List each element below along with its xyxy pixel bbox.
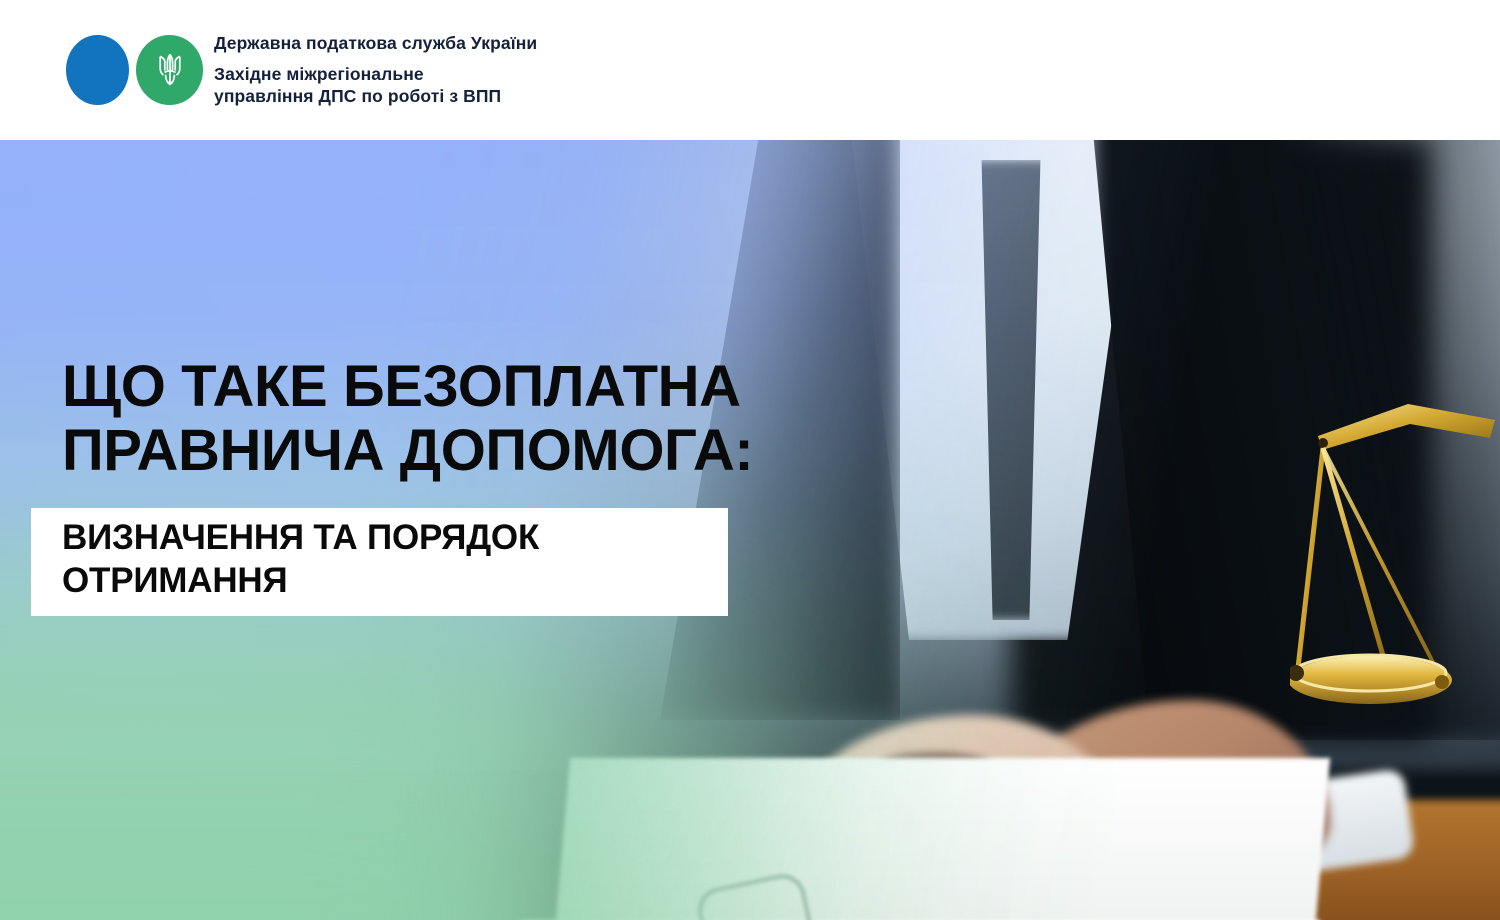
poster-root: Державна податкова служба України Західн… (0, 0, 1500, 920)
site-header: Державна податкова служба України Західн… (0, 0, 1500, 140)
logo-blue-circle-icon (66, 35, 129, 105)
hero-subhead: ВИЗНАЧЕННЯ ТА ПОРЯДОК ОТРИМАННЯ (62, 517, 742, 602)
title-block: ЩО ТАКЕ БЕЗОПЛАТНА ПРАВНИЧА ДОПОМОГА: ВИ… (0, 140, 1500, 920)
brand-lockup[interactable]: Державна податкова служба України Західн… (0, 33, 537, 108)
org-subtitle: Західне міжрегіональне управління ДПС по… (214, 63, 537, 108)
hero-headline: ЩО ТАКЕ БЕЗОПЛАТНА ПРАВНИЧА ДОПОМОГА: (62, 355, 862, 484)
logo-green-circle-icon (136, 35, 203, 105)
org-title: Державна податкова служба України (214, 33, 537, 54)
hero-banner: ЩО ТАКЕ БЕЗОПЛАТНА ПРАВНИЧА ДОПОМОГА: ВИ… (0, 140, 1500, 920)
agency-logo[interactable] (66, 35, 206, 105)
ukraine-trident-icon (155, 51, 185, 89)
brand-text: Державна податкова служба України Західн… (214, 33, 537, 108)
